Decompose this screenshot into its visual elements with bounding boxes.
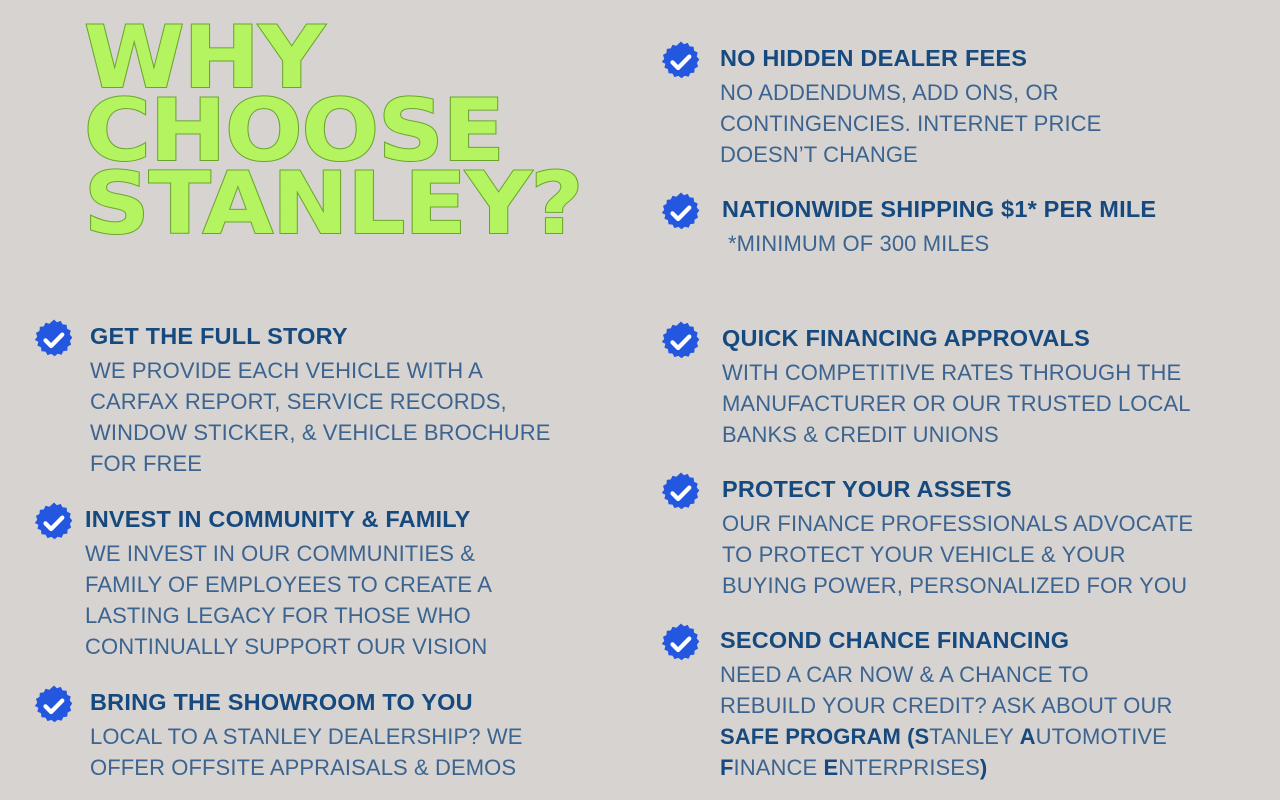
safe-acronym-plain-1: TANLEY xyxy=(929,724,1019,749)
page-title: WHY CHOOSE STANLEY? xyxy=(84,22,656,241)
verified-check-badge-icon xyxy=(659,622,703,666)
benefit-description: LOCAL TO A STANLEY DEALERSHIP? WE OFFER … xyxy=(90,721,612,783)
safe-acronym-plain-3: INANCE xyxy=(734,755,824,780)
benefit-item-invest-in-community-family: INVEST IN COMMUNITY & FAMILY WE INVEST I… xyxy=(32,501,612,662)
benefit-title: INVEST IN COMMUNITY & FAMILY xyxy=(85,501,612,538)
benefit-description-line-1: NEED A CAR NOW & A CHANCE TO xyxy=(720,662,1089,687)
benefit-title: SECOND CHANCE FINANCING xyxy=(720,622,1259,659)
benefit-item-nationwide-shipping: NATIONWIDE SHIPPING $1* PER MILE *MINIMU… xyxy=(659,191,1259,259)
verified-check-badge-icon xyxy=(659,191,703,235)
safe-acronym-bold-1: SAFE PROGRAM (S xyxy=(720,724,929,749)
safe-acronym-plain-4: NTERPRISES xyxy=(838,755,980,780)
benefit-title: NO HIDDEN DEALER FEES xyxy=(720,40,1259,77)
benefit-title: BRING THE SHOWROOM TO YOU xyxy=(90,684,612,721)
benefit-item-get-the-full-story: GET THE FULL STORY WE PROVIDE EACH VEHIC… xyxy=(32,318,612,479)
safe-acronym-bold-5: ) xyxy=(980,755,987,780)
verified-check-badge-icon xyxy=(659,40,703,84)
benefit-title: QUICK FINANCING APPROVALS xyxy=(722,320,1259,357)
safe-acronym-bold-4: E xyxy=(823,755,838,780)
verified-check-badge-icon xyxy=(32,501,76,545)
benefit-item-no-hidden-dealer-fees: NO HIDDEN DEALER FEES NO ADDENDUMS, ADD … xyxy=(659,40,1259,170)
benefit-item-protect-your-assets: PROTECT YOUR ASSETS OUR FINANCE PROFESSI… xyxy=(659,471,1259,601)
safe-acronym-bold-3: F xyxy=(720,755,734,780)
benefit-description: NO ADDENDUMS, ADD ONS, OR CONTINGENCIES.… xyxy=(720,77,1259,170)
verified-check-badge-icon xyxy=(32,684,76,728)
benefit-title: PROTECT YOUR ASSETS xyxy=(722,471,1259,508)
benefit-title: GET THE FULL STORY xyxy=(90,318,612,355)
why-choose-stanley-poster: WHY CHOOSE STANLEY? GET THE FULL STORY W… xyxy=(0,0,1280,800)
benefit-item-second-chance-financing: SECOND CHANCE FINANCING NEED A CAR NOW &… xyxy=(659,622,1259,783)
benefit-description-line-2: REBUILD YOUR CREDIT? ASK ABOUT OUR xyxy=(720,693,1172,718)
benefit-description: *MINIMUM OF 300 MILES xyxy=(722,228,1259,259)
benefit-item-bring-the-showroom-to-you: BRING THE SHOWROOM TO YOU LOCAL TO A STA… xyxy=(32,684,612,783)
safe-acronym-plain-2: UTOMOTIVE xyxy=(1036,724,1167,749)
benefit-description: OUR FINANCE PROFESSIONALS ADVOCATE TO PR… xyxy=(722,508,1259,601)
benefit-description: WITH COMPETITIVE RATES THROUGH THE MANUF… xyxy=(722,357,1259,450)
benefit-description: WE PROVIDE EACH VEHICLE WITH A CARFAX RE… xyxy=(90,355,612,479)
benefit-description: WE INVEST IN OUR COMMUNITIES & FAMILY OF… xyxy=(85,538,612,662)
benefit-title: NATIONWIDE SHIPPING $1* PER MILE xyxy=(722,191,1259,228)
safe-acronym-bold-2: A xyxy=(1020,724,1036,749)
verified-check-badge-icon xyxy=(659,471,703,515)
verified-check-badge-icon xyxy=(659,320,703,364)
benefit-description: NEED A CAR NOW & A CHANCE TO REBUILD YOU… xyxy=(720,659,1259,783)
verified-check-badge-icon xyxy=(32,318,76,362)
benefit-item-quick-financing-approvals: QUICK FINANCING APPROVALS WITH COMPETITI… xyxy=(659,320,1259,450)
